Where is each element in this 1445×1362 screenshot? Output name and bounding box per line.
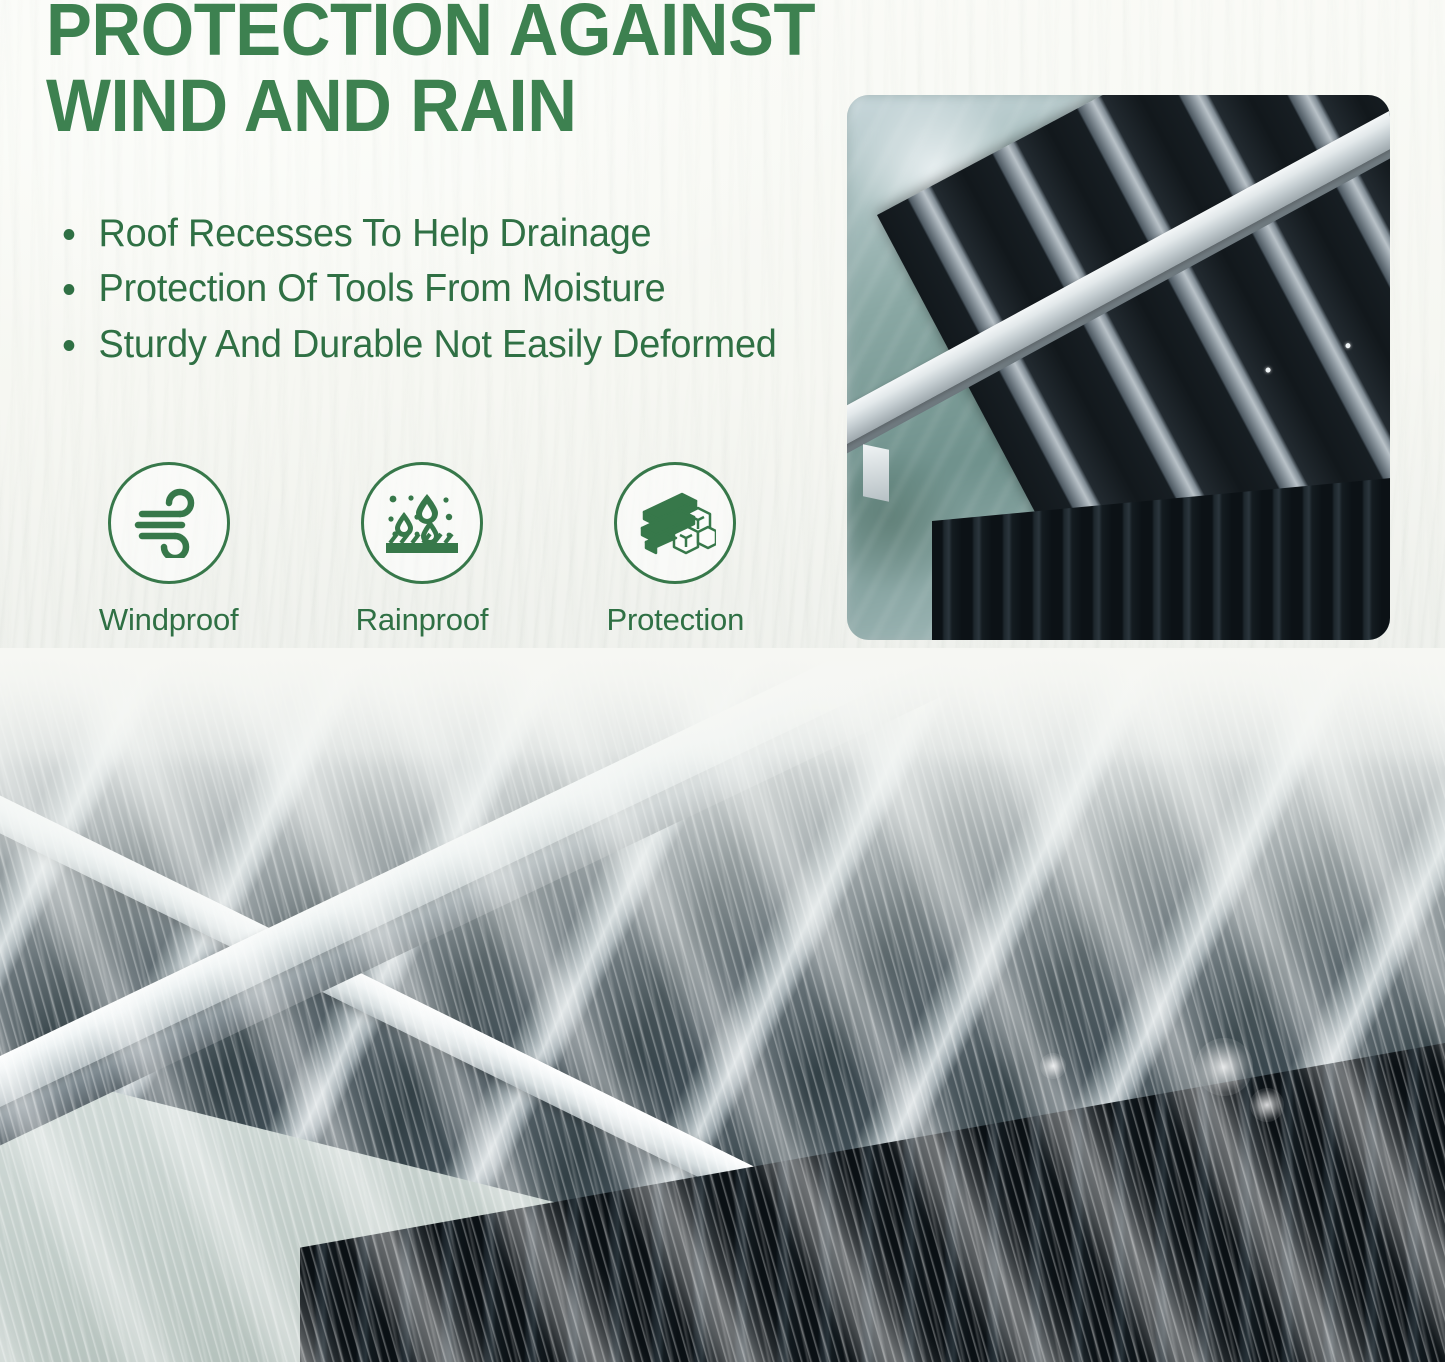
feature-rainproof: Rainproof <box>295 462 548 638</box>
roof-screw <box>1345 342 1352 349</box>
product-feature-banner: PROTECTION AGAINST WIND AND RAIN Roof Re… <box>0 0 1445 1362</box>
feature-protection: Protection <box>549 462 802 638</box>
feature-label: Protection <box>607 602 745 638</box>
feature-label: Rainproof <box>356 602 489 638</box>
feature-icon-row: Windproof <box>42 462 802 638</box>
inset-trim-corner-return <box>863 444 889 502</box>
feature-label: Windproof <box>99 602 239 638</box>
inset-product-photo <box>847 95 1390 640</box>
hero-top-blend <box>0 648 1445 768</box>
list-item: Protection Of Tools From Moisture <box>52 261 857 316</box>
wind-icon <box>108 462 230 584</box>
upper-content-panel: PROTECTION AGAINST WIND AND RAIN Roof Re… <box>0 0 1445 680</box>
list-item: Roof Recesses To Help Drainage <box>52 206 857 261</box>
page-title: PROTECTION AGAINST WIND AND RAIN <box>46 0 939 144</box>
water-droplets-on-surface-icon <box>361 462 483 584</box>
feature-bullet-list: Roof Recesses To Help Drainage Protectio… <box>52 206 882 372</box>
rain-bokeh <box>1250 1088 1284 1122</box>
feature-windproof: Windproof <box>42 462 295 638</box>
roof-screw <box>1265 367 1272 374</box>
stacked-beams-icon <box>614 462 736 584</box>
hero-product-photo <box>0 648 1445 1362</box>
list-item: Sturdy And Durable Not Easily Deformed <box>52 317 857 372</box>
